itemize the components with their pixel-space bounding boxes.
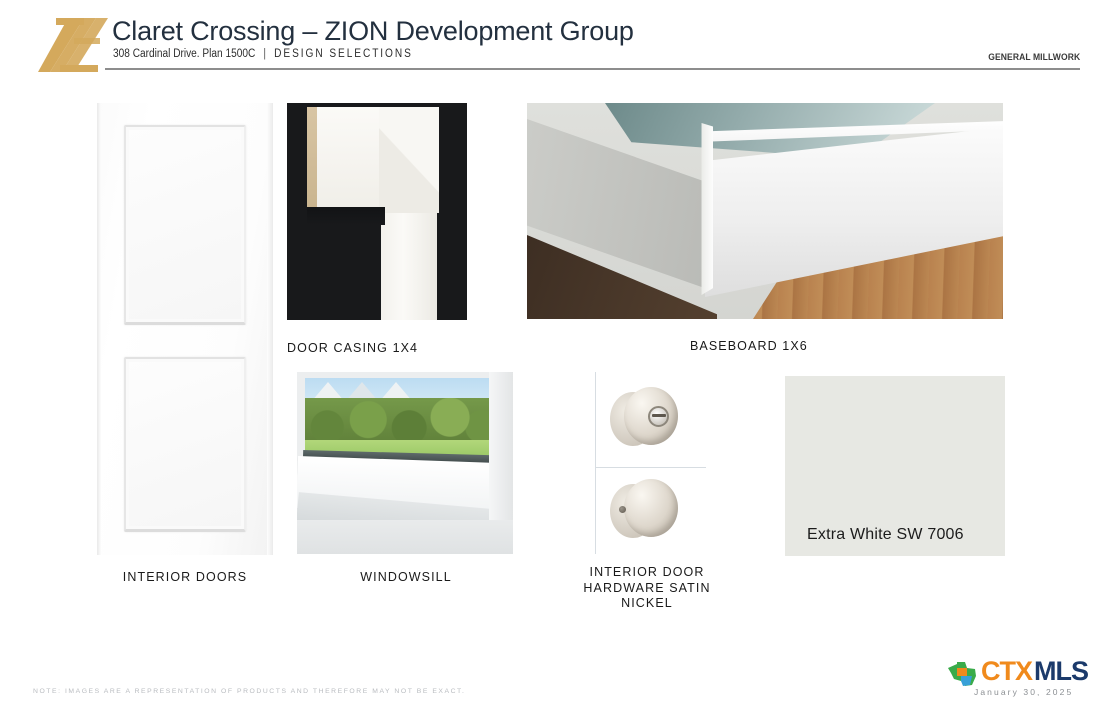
subtitle-address: 308 Cardinal Drive. Plan 1500C <box>113 48 255 60</box>
caption-baseboard: BASEBOARD 1X6 <box>690 339 950 355</box>
zion-z-logo-icon <box>38 16 108 74</box>
page-title: Claret Crossing – ZION Development Group <box>112 16 634 47</box>
texas-shape-icon <box>948 659 978 687</box>
door-right-edge <box>267 103 273 555</box>
page-header: Claret Crossing – ZION Development Group… <box>0 0 1102 80</box>
hardware-divider-horizontal <box>595 467 706 468</box>
passage-door-knob-icon <box>608 476 680 548</box>
category-label: GENERAL MILLWORK <box>988 52 1080 63</box>
ctxmls-mls-text: MLS <box>1034 656 1088 687</box>
door-panel-upper <box>124 125 246 325</box>
caption-interior-doors: INTERIOR DOORS <box>60 570 310 586</box>
header-divider <box>105 68 1080 70</box>
ctxmls-logo: CTX MLS January 30, 2025 <box>948 656 1082 702</box>
casing-drop-shadow <box>307 207 385 225</box>
disclaimer-note: NOTE: IMAGES ARE A REPRESENTATION OF PRO… <box>33 688 465 695</box>
caption-door-hardware: INTERIOR DOOR HARDWARE SATIN NICKEL <box>567 565 727 612</box>
door-casing-image <box>287 103 467 320</box>
subtitle-separator: | <box>258 48 271 60</box>
casing-miter-joint <box>379 107 439 213</box>
keyed-door-knob-icon <box>608 384 680 456</box>
casing-mdf-edge <box>307 107 317 211</box>
design-selections-page: Claret Crossing – ZION Development Group… <box>0 0 1102 713</box>
door-left-edge <box>97 103 101 555</box>
windowsill-lower-wall <box>297 520 513 554</box>
windowsill-hedge <box>305 398 491 446</box>
hardware-divider-vertical <box>595 372 596 554</box>
caption-door-casing: DOOR CASING 1X4 <box>287 341 527 357</box>
baseboard-image <box>527 103 1003 319</box>
ctxmls-ctx-text: CTX <box>981 656 1032 687</box>
page-subtitle: 308 Cardinal Drive. Plan 1500C | DESIGN … <box>113 48 413 60</box>
windowsill-image <box>297 372 513 554</box>
door-panel-lower <box>124 357 246 532</box>
caption-windowsill: WINDOWSILL <box>300 570 512 586</box>
ctxmls-date: January 30, 2025 <box>974 687 1073 697</box>
knob-ball <box>624 479 678 537</box>
knob-key-slot <box>652 414 666 417</box>
door-hardware-image <box>588 372 706 554</box>
paint-color-label: Extra White SW 7006 <box>807 526 964 544</box>
interior-doors-image <box>97 103 273 555</box>
knob-set-screw <box>619 506 626 513</box>
subtitle-section: DESIGN SELECTIONS <box>274 48 413 60</box>
paint-color-swatch: Extra White SW 7006 <box>785 376 1005 556</box>
